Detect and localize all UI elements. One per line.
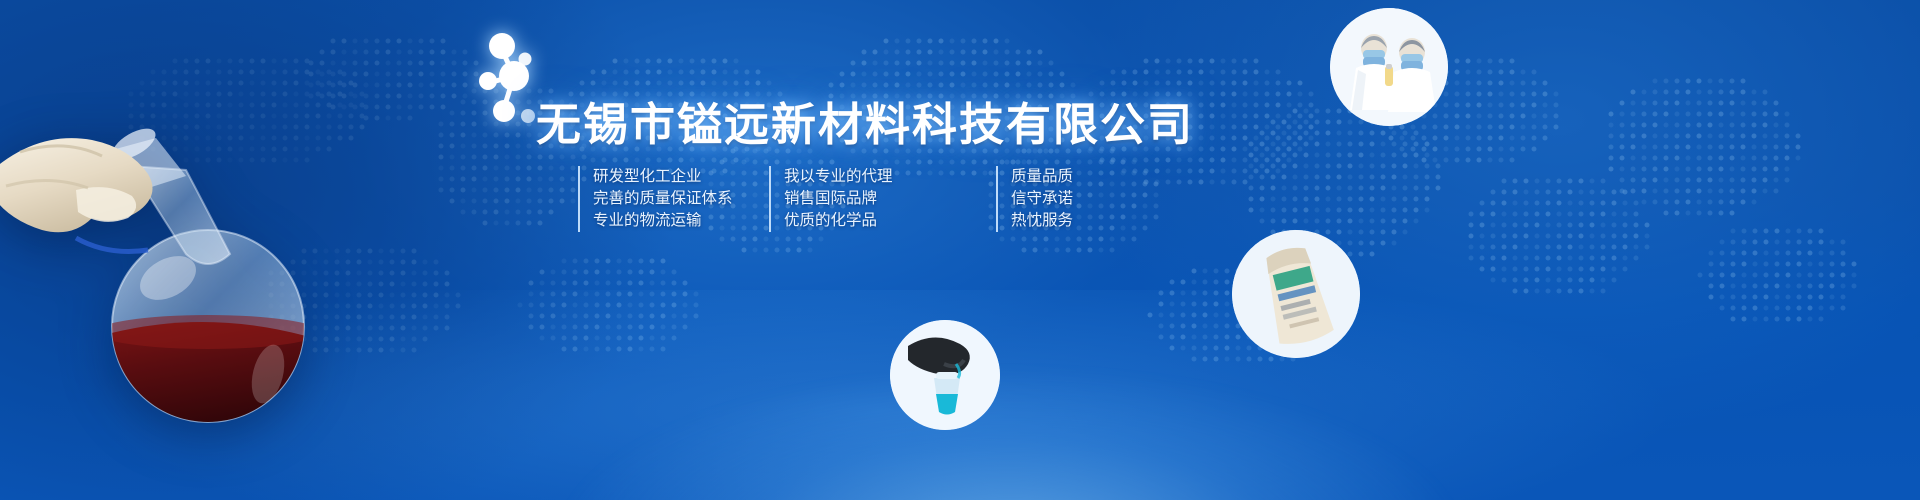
page-title: 无锡市镒远新材料科技有限公司 bbox=[536, 88, 1194, 153]
chemical-sack-photo-icon bbox=[1232, 230, 1360, 358]
slogan-line: 优质的化学品 bbox=[784, 210, 960, 232]
slogan-column-agency: 我以专业的代理 销售国际品牌 优质的化学品 bbox=[769, 166, 960, 232]
slogan-line: 信守承诺 bbox=[1011, 188, 1131, 210]
badge-pouring-hand bbox=[890, 320, 1000, 430]
slogan-column-rd: 研发型化工企业 完善的质量保证体系 专业的物流运输 bbox=[578, 166, 733, 232]
gloved-hand-pouring-photo-icon bbox=[890, 320, 1000, 430]
slogan-line: 研发型化工企业 bbox=[593, 166, 733, 188]
lab-technicians-photo-icon bbox=[1330, 8, 1448, 126]
slogan-column-service: 质量品质 信守承诺 热忱服务 bbox=[996, 166, 1131, 232]
slogan-line: 质量品质 bbox=[1011, 166, 1131, 188]
company-banner: 无锡市镒远新材料科技有限公司 研发型化工企业 完善的质量保证体系 专业的物流运输… bbox=[0, 0, 1920, 500]
slogan-columns: 研发型化工企业 完善的质量保证体系 专业的物流运输 我以专业的代理 销售国际品牌… bbox=[578, 166, 1131, 232]
badge-lab-technicians bbox=[1330, 8, 1448, 126]
badge-chemical-sack bbox=[1232, 230, 1360, 358]
slogan-line: 热忱服务 bbox=[1011, 210, 1131, 232]
slogan-line: 销售国际品牌 bbox=[784, 188, 960, 210]
flask-and-gloved-hand-image bbox=[0, 78, 410, 500]
slogan-line: 我以专业的代理 bbox=[784, 166, 960, 188]
slogan-line: 专业的物流运输 bbox=[593, 210, 733, 232]
slogan-line: 完善的质量保证体系 bbox=[593, 188, 733, 210]
